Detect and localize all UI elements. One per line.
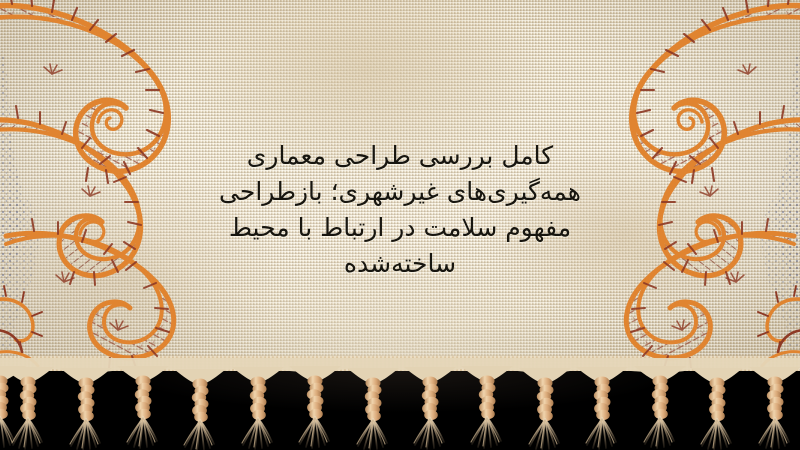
black-backdrop-band — [0, 371, 800, 450]
title-line-4: ساخته‌شده — [165, 246, 635, 282]
slide-canvas: کامل بررسی طراحی معماری همه‌گیری‌های غیر… — [0, 0, 800, 450]
title-line-3: مفهوم سلامت در ارتباط با محیط — [165, 210, 635, 246]
title-line-2: همه‌گیری‌های غیرشهری؛ بازطراحی — [165, 174, 635, 210]
title-line-1: کامل بررسی طراحی معماری — [165, 138, 635, 174]
slide-title: کامل بررسی طراحی معماری همه‌گیری‌های غیر… — [165, 138, 635, 282]
